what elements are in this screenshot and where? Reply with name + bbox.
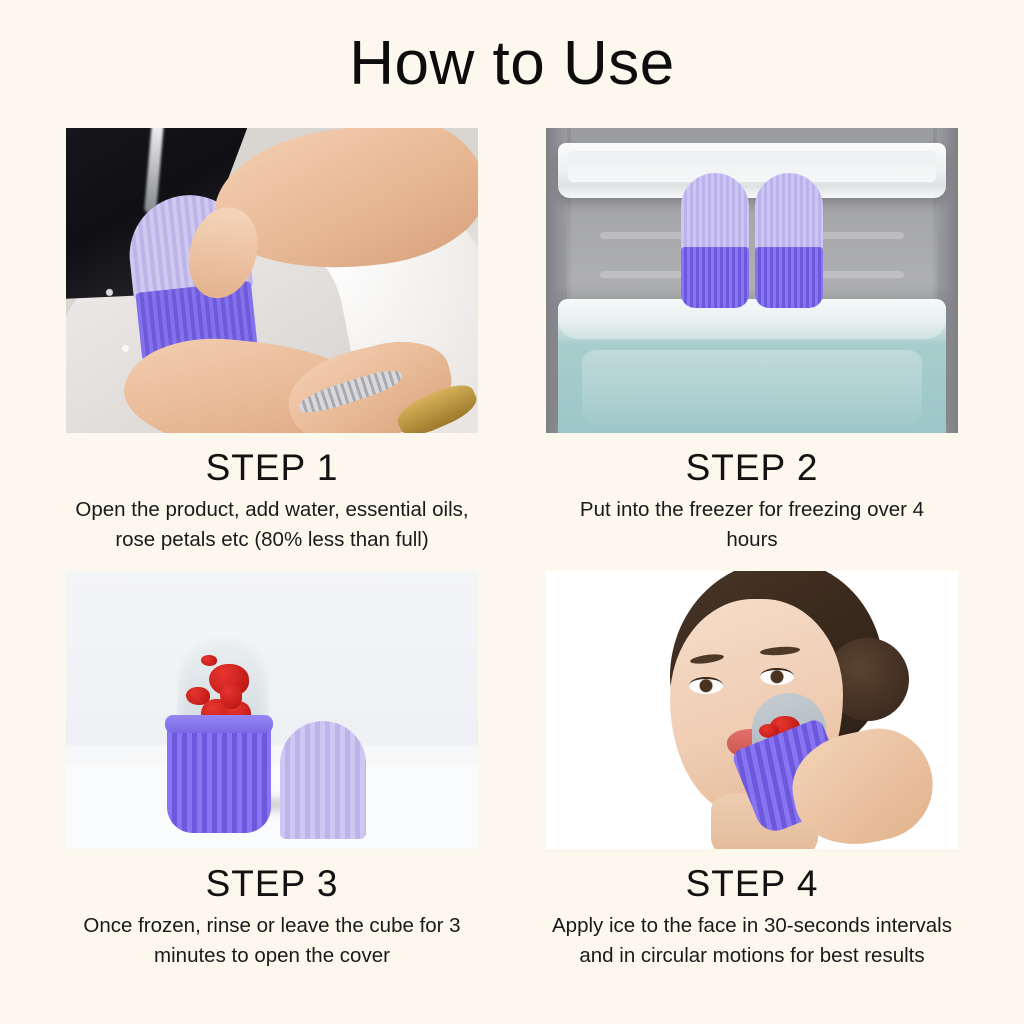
steps-row-top: STEP 1 Open the product, add water, esse… — [0, 128, 1024, 554]
product-cap — [755, 173, 823, 250]
product-rim — [165, 715, 273, 733]
step-2-description: Put into the freezer for freezing over 4… — [546, 495, 958, 554]
step-2-image — [546, 128, 958, 433]
ice-roller-right — [755, 173, 823, 308]
product-base-open — [167, 721, 271, 833]
ice-roller-left — [681, 173, 749, 308]
freezer-drawer-panel — [582, 350, 923, 425]
step-3-image — [66, 571, 478, 849]
freezer-drawer-top — [558, 299, 945, 339]
step-3-label: STEP 3 — [66, 863, 478, 905]
step-card-4: STEP 4 Apply ice to the face in 30-secon… — [546, 571, 958, 970]
freezer-drawer — [558, 299, 945, 433]
step-1-description: Open the product, add water, essential o… — [66, 495, 478, 554]
freezer-shelf — [558, 143, 945, 198]
freezer-shelf-inner — [568, 151, 936, 182]
detached-cover — [280, 721, 366, 839]
step-3-description: Once frozen, rinse or leave the cube for… — [66, 911, 478, 970]
model-eye-right — [760, 668, 794, 685]
steps-grid: STEP 1 Open the product, add water, esse… — [0, 128, 1024, 970]
step-card-1: STEP 1 Open the product, add water, esse… — [66, 128, 478, 554]
freezer-rib — [600, 271, 694, 278]
product-base — [755, 247, 823, 308]
page-title: How to Use — [0, 30, 1024, 98]
step-4-description: Apply ice to the face in 30-seconds inte… — [546, 911, 958, 970]
step-4-label: STEP 4 — [546, 863, 958, 905]
freezer-rib — [600, 232, 694, 239]
model-eyebrow-right — [759, 645, 799, 656]
freezer-interior — [546, 128, 958, 433]
step-card-3: STEP 3 Once frozen, rinse or leave the c… — [66, 571, 478, 970]
freezer-rib — [810, 232, 904, 239]
freezer-rib — [810, 271, 904, 278]
model-eyebrow-left — [690, 653, 725, 666]
product-cap — [681, 173, 749, 250]
rose-petal — [220, 683, 242, 709]
model-eye-left — [689, 677, 723, 694]
step-card-2: STEP 2 Put into the freezer for freezing… — [546, 128, 958, 554]
step-4-image — [546, 571, 958, 849]
step-2-label: STEP 2 — [546, 447, 958, 489]
how-to-use-infographic: How to Use — [0, 0, 1024, 1024]
steps-row-bottom: STEP 3 Once frozen, rinse or leave the c… — [0, 571, 1024, 970]
rose-petal — [201, 655, 217, 666]
step-1-image — [66, 128, 478, 433]
step-1-label: STEP 1 — [66, 447, 478, 489]
product-base — [681, 247, 749, 308]
